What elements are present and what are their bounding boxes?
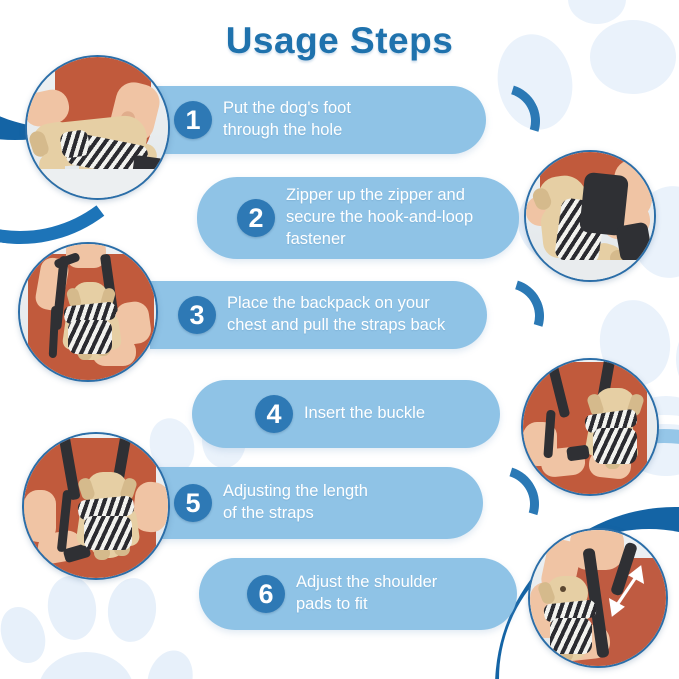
photo-step-5 bbox=[22, 432, 170, 580]
photo-step-4 bbox=[521, 358, 659, 496]
step-5-text: Adjusting the length of the straps bbox=[212, 481, 380, 525]
step-6-badge: 6 bbox=[247, 575, 285, 613]
step-5-badge: 5 bbox=[174, 484, 212, 522]
photo-step-1 bbox=[25, 55, 170, 200]
step-1-bubble[interactable]: 1 Put the dog's foot through the hole bbox=[143, 86, 486, 154]
step-4-text: Insert the buckle bbox=[293, 403, 437, 425]
photo-step-6 bbox=[528, 528, 668, 668]
step-3-bubble[interactable]: 3 Place the backpack on your chest and p… bbox=[150, 281, 487, 349]
step-6-bubble[interactable]: 6 Adjust the shoulder pads to fit bbox=[199, 558, 517, 630]
step-3-badge: 3 bbox=[178, 296, 216, 334]
step-3-crescent bbox=[457, 266, 557, 366]
step-2-bubble[interactable]: 2 Zipper up the zipper and secure the ho… bbox=[197, 177, 519, 259]
step-2-text: Zipper up the zipper and secure the hook… bbox=[275, 185, 485, 250]
step-1-text: Put the dog's foot through the hole bbox=[212, 98, 363, 142]
step-3-text: Place the backpack on your chest and pul… bbox=[216, 293, 457, 337]
step-4-badge: 4 bbox=[255, 395, 293, 433]
photo-step-3 bbox=[18, 242, 158, 382]
step-1-badge: 1 bbox=[174, 101, 212, 139]
step-2-badge: 2 bbox=[237, 199, 275, 237]
infographic-canvas: Usage Steps 1 Put the dog's foot through… bbox=[0, 0, 679, 679]
step-5-bubble[interactable]: 5 Adjusting the length of the straps bbox=[146, 467, 483, 539]
step-6-text: Adjust the shoulder pads to fit bbox=[285, 572, 449, 616]
step-4-bubble[interactable]: 4 Insert the buckle bbox=[192, 380, 500, 448]
adjust-arrow-icon bbox=[604, 564, 650, 618]
photo-step-2 bbox=[524, 150, 656, 282]
